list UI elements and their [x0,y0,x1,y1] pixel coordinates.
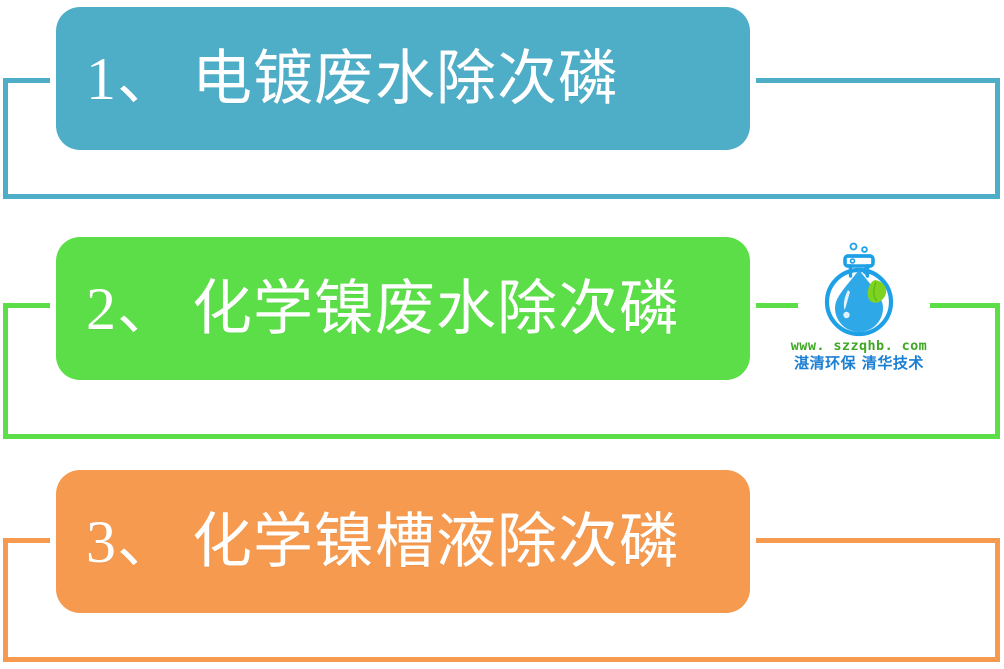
row-3-label: 3、化学镍槽液除次磷 [56,512,680,572]
row-2-text: 化学镍废水除次磷 [192,276,680,342]
row-2-label: 2、化学镍废水除次磷 [56,279,680,339]
row-2-pill[interactable]: 2、化学镍废水除次磷 [56,237,750,380]
row-3-index: 3、 [86,512,178,572]
flask-water-drop-leaf-icon [780,240,938,340]
row-1-label: 1、电镀废水除次磷 [56,49,619,109]
logo-website-url: www. szzqhb. com [780,338,938,354]
row-3-pill[interactable]: 3、化学镍槽液除次磷 [56,470,750,613]
row-1-index: 1、 [86,49,178,109]
company-logo: www. szzqhb. com 湛清环保 清华技术 [780,240,938,382]
row-1-text: 电镀废水除次磷 [192,46,619,112]
row-3-text: 化学镍槽液除次磷 [192,509,680,575]
logo-tagline: 湛清环保 清华技术 [780,354,938,372]
diagram-canvas: 1、电镀废水除次磷 2、化学镍废水除次磷 3、化学镍槽液除次磷 [0,0,1004,669]
row-2-index: 2、 [86,279,178,339]
row-1-pill[interactable]: 1、电镀废水除次磷 [56,7,750,150]
